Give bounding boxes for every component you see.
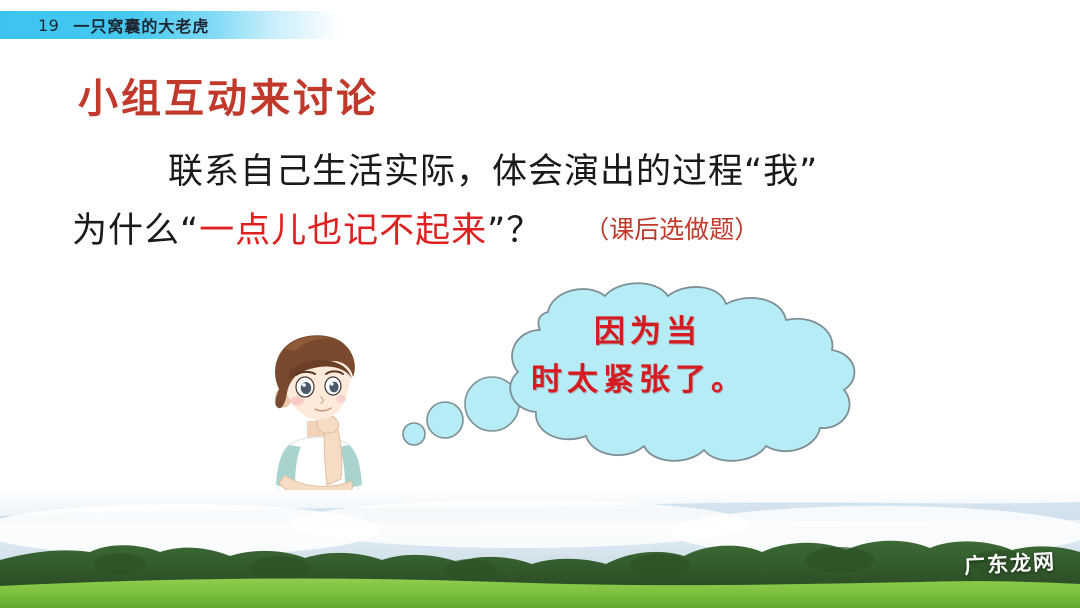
bubble-text-line-2: 时太紧张了。 (480, 356, 798, 404)
question-line-2: 为什么“一点儿也记不起来”？（课后选做题） (72, 201, 1012, 260)
boy-cheek-left (290, 397, 304, 406)
question-line-1: 联系自己生活实际，体会演出的过程“我” (72, 143, 1012, 201)
thought-dot-medium (427, 402, 463, 438)
landscape-photo: 广东龙网 (0, 490, 1080, 608)
question-paragraph: 联系自己生活实际，体会演出的过程“我” 为什么“一点儿也记不起来”？（课后选做题… (72, 143, 1012, 260)
lesson-title: 一只窝囊的大老虎 (73, 13, 209, 37)
section-heading: 小组互动来讨论 (78, 66, 379, 124)
boy-pupil-left (301, 382, 311, 394)
question-line-2-suffix: ”？ (487, 211, 542, 251)
watermark-text: 广东龙网 (963, 546, 1056, 581)
boy-eye-glint-right (330, 382, 333, 385)
question-highlight-quote: 一点儿也记不起来 (199, 211, 487, 251)
slide-canvas: 19 一只窝囊的大老虎 小组互动来讨论 联系自己生活实际，体会演出的过程“我” … (0, 0, 1080, 608)
thought-dot-small (403, 423, 425, 445)
lesson-number: 19 (38, 16, 59, 35)
boy-cheek-right (336, 395, 346, 403)
homework-note: （课后选做题） (584, 215, 759, 244)
thought-bubble: 因为当 时太紧张了。 (400, 282, 900, 467)
bubble-text: 因为当 时太紧张了。 (498, 308, 798, 404)
question-line-2-prefix: 为什么“ (72, 211, 199, 251)
bubble-text-line-1: 因为当 (498, 308, 798, 356)
boy-eye-glint-left (302, 383, 306, 387)
landscape-svg (0, 490, 1080, 608)
header-bar-content: 19 一只窝囊的大老虎 (0, 11, 340, 39)
thinking-boy-illustration (255, 333, 385, 505)
boy-svg (255, 333, 385, 505)
